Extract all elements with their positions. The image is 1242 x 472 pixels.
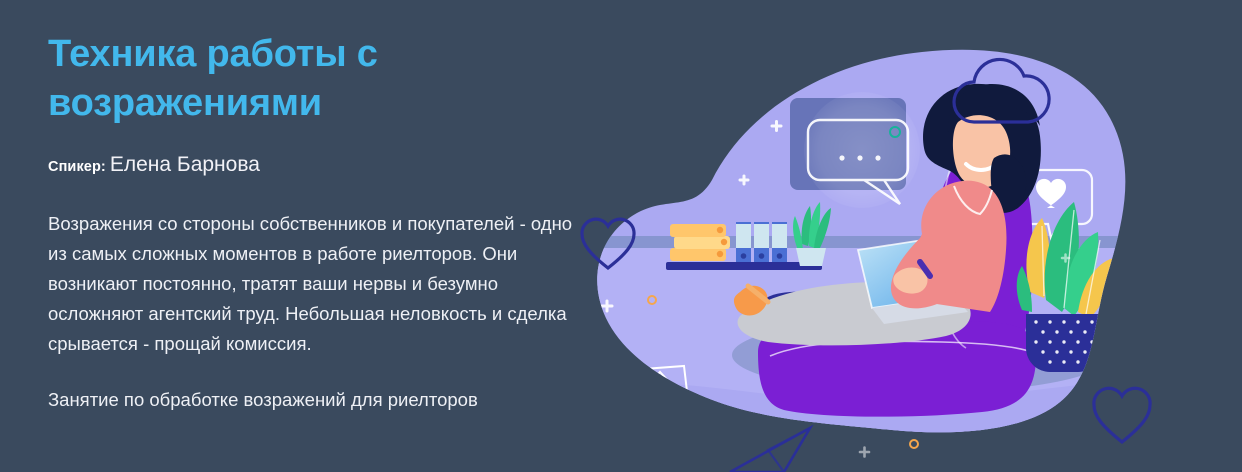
speaker-line: Спикер:Елена Барнова	[48, 153, 588, 177]
promo-banner: Техника работы с возражениями Спикер:Еле…	[0, 0, 1242, 472]
description-paragraph-1: Возражения со стороны собственников и по…	[48, 209, 588, 359]
binder-icons	[736, 222, 787, 262]
shelf-board	[666, 262, 822, 270]
text-column: Техника работы с возражениями Спикер:Еле…	[48, 30, 588, 415]
sparkle-icon	[860, 448, 869, 457]
heart-outline-icon	[1094, 388, 1150, 442]
book-stack-icon	[670, 224, 730, 261]
speaker-name: Елена Барнова	[110, 153, 260, 176]
hero-illustration	[562, 0, 1242, 472]
triangle-outline-icon	[768, 428, 810, 472]
circle-dot-icon	[910, 440, 918, 448]
page-title: Техника работы с возражениями	[48, 30, 408, 127]
sparkle-icon-teal	[586, 192, 595, 201]
chat-glow-circle	[804, 92, 920, 208]
description-paragraph-2: Занятие по обработке возражений для риел…	[48, 385, 588, 415]
speaker-label: Спикер:	[48, 159, 106, 175]
